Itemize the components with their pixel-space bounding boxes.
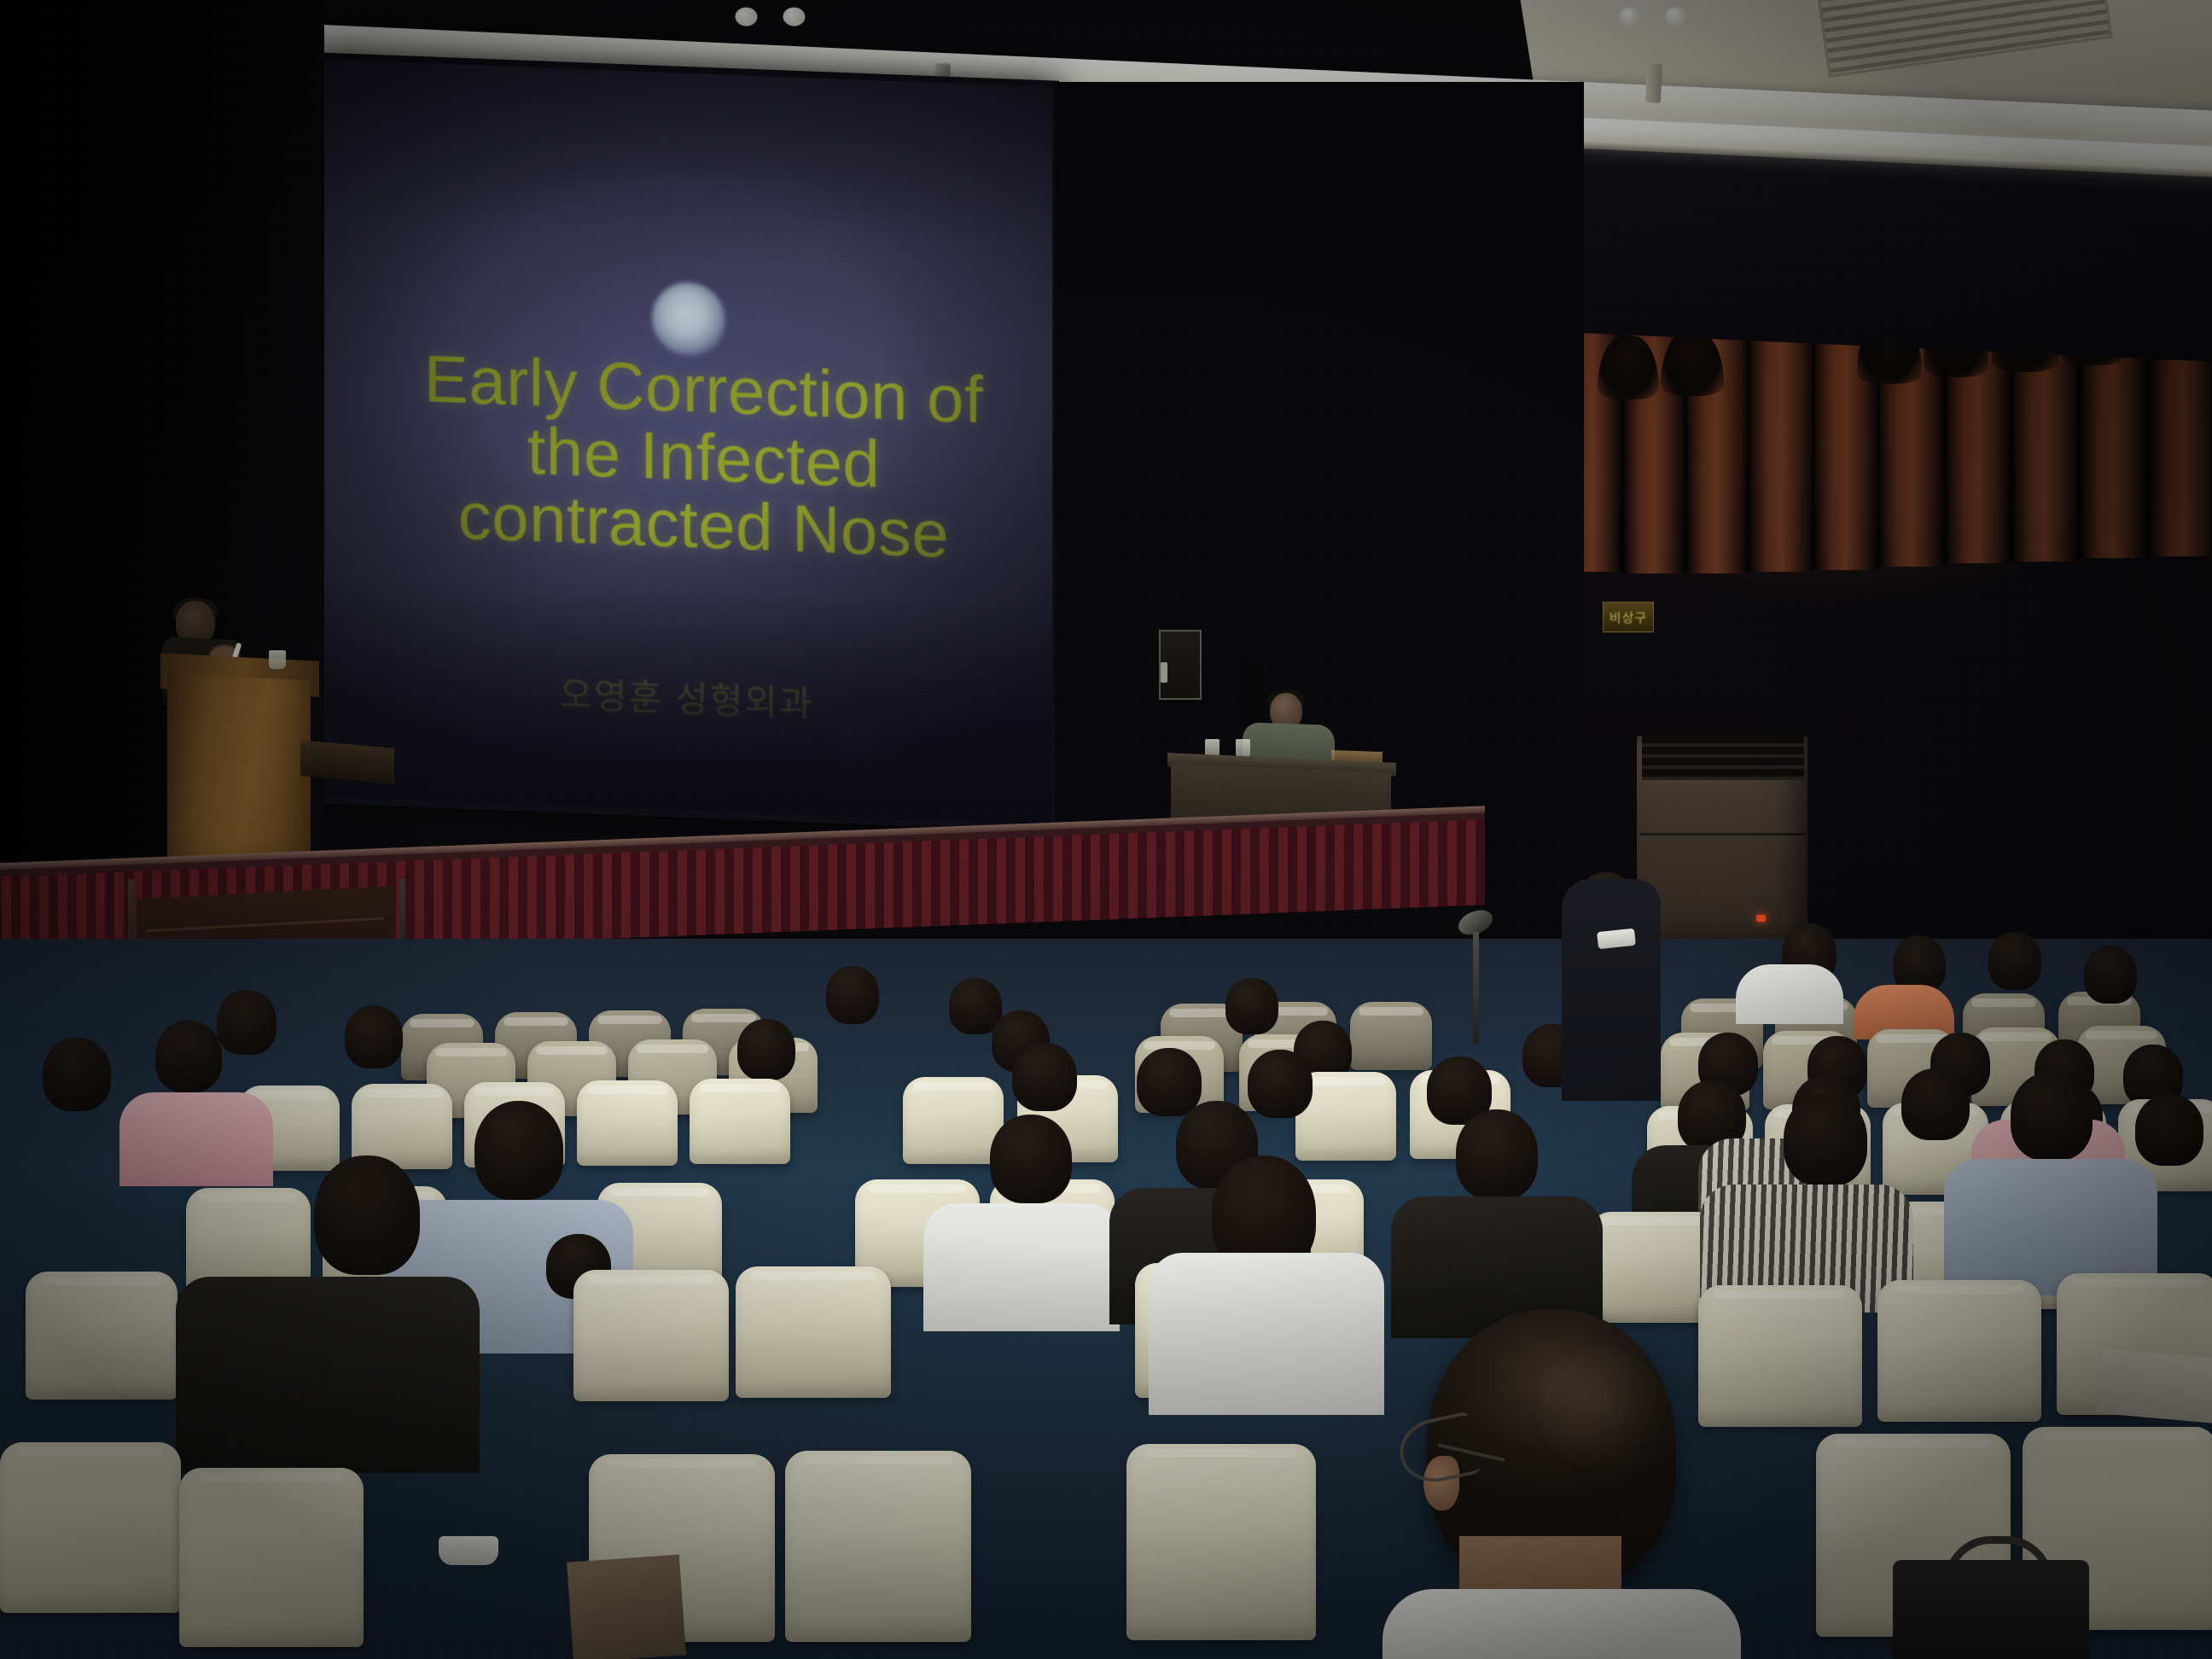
attendee-head [43, 1038, 111, 1111]
attendee-torso [119, 1092, 273, 1186]
attendee-head [1901, 1068, 1970, 1140]
beam-clip [1645, 63, 1662, 103]
door-handle-icon[interactable] [1161, 662, 1167, 683]
attendee-torso [176, 1277, 480, 1473]
attendee-head [314, 1155, 420, 1275]
shoulder-bag [1893, 1560, 2089, 1659]
attendee-head [155, 1021, 222, 1092]
microphone-stand [1473, 932, 1479, 1045]
projection-screen: Early Correction of the Infected contrac… [314, 52, 1059, 832]
attendee-torso [923, 1203, 1120, 1331]
attendee-head [826, 966, 879, 1024]
ac-panel-seam [1640, 833, 1806, 835]
attendee-head [1456, 1109, 1538, 1200]
seat[interactable] [26, 1272, 178, 1400]
screen-surface: Early Correction of the Infected contrac… [321, 60, 1052, 825]
attendee-head [474, 1101, 563, 1200]
seat[interactable] [690, 1079, 790, 1164]
seat[interactable] [577, 1080, 678, 1166]
attendee-head [2084, 946, 2137, 1004]
handout-on-seat [567, 1555, 686, 1659]
seat[interactable] [1350, 1002, 1432, 1070]
attendee-head [1248, 1050, 1313, 1118]
seat[interactable] [573, 1270, 729, 1401]
attendee-torso [1562, 879, 1661, 1101]
attendee-torso [1149, 1253, 1384, 1415]
attendee-head [217, 990, 276, 1055]
attendee-head [2011, 1072, 2093, 1161]
exit-sign: 비상구 [1603, 602, 1654, 632]
screen-vignette [321, 60, 1052, 825]
seat[interactable] [179, 1468, 364, 1647]
program-handout [2097, 1348, 2212, 1423]
seat[interactable] [1126, 1444, 1316, 1640]
attendee-head [2135, 1094, 2203, 1166]
attendee-head [1137, 1048, 1202, 1116]
ac-power-led-icon [1756, 915, 1766, 922]
seat[interactable] [903, 1077, 1004, 1164]
seat[interactable] [1877, 1280, 2041, 1422]
ac-grille-icon [1642, 736, 1804, 780]
attendee-torso [1736, 964, 1843, 1024]
attendee-head [1784, 1094, 1867, 1186]
seat[interactable] [736, 1266, 891, 1398]
attendee-head [1012, 1043, 1077, 1111]
hair-crown [1536, 1347, 1664, 1475]
seat[interactable] [785, 1451, 971, 1642]
seat[interactable] [1698, 1285, 1862, 1427]
attendee-head [1225, 978, 1278, 1034]
attendee-head [1988, 932, 2041, 990]
cup-icon [269, 650, 286, 669]
attendee-head [990, 1115, 1072, 1203]
seat[interactable] [0, 1442, 181, 1613]
wall-recess [1242, 662, 1264, 725]
attendee-head [345, 1005, 403, 1068]
exit-sign-text: 비상구 [1604, 602, 1653, 632]
auditorium-photo: Early Correction of the Infected contrac… [0, 0, 2212, 1659]
cup-icon [1236, 739, 1250, 758]
foreground-attendee-shirt [1382, 1589, 1741, 1659]
attendee-head [737, 1019, 795, 1080]
cup-icon [439, 1536, 498, 1565]
